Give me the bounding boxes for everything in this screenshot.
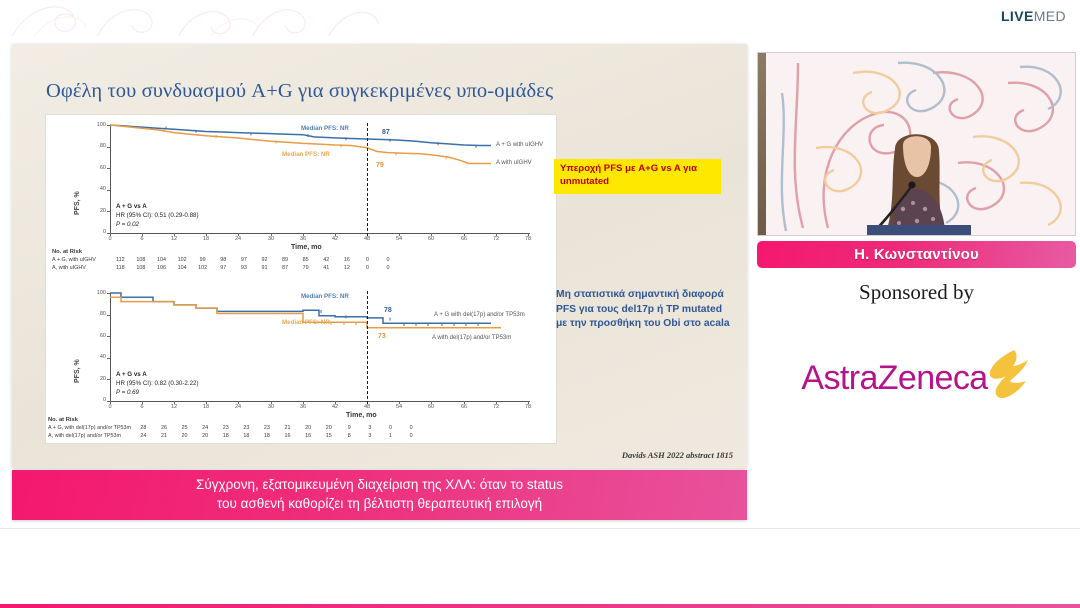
chart2-risk-header: No. at Risk xyxy=(48,417,421,423)
risk-cell: 108 xyxy=(131,256,152,264)
risk-cell: 3 xyxy=(360,432,381,440)
risk-cell: 18 xyxy=(215,432,236,440)
risk-cell: 3 xyxy=(360,424,381,432)
risk-cell: 102 xyxy=(172,256,193,264)
risk-cell: 23 xyxy=(236,424,257,432)
chart2-stat-box: A + G vs A HR (95% CI): 0.82 (0.30-2.22)… xyxy=(116,371,199,398)
slide-bottom-banner: Σύγχρονη, εξατομικευμένη διαχείριση της … xyxy=(12,470,747,520)
risk-cell: 0 xyxy=(401,432,422,440)
risk-cell: 85 xyxy=(295,256,316,264)
livemed-live: LIVE xyxy=(1001,8,1034,24)
slide-title: Οφέλη του συνδυασμού A+G για συγκεκριμέν… xyxy=(46,80,553,103)
chart1-stat-header: A + G vs A xyxy=(116,203,199,212)
risk-cell: 20 xyxy=(298,424,319,432)
risk-cell: 21 xyxy=(154,432,175,440)
risk-cell: 16 xyxy=(298,432,319,440)
risk-cell: 20 xyxy=(318,424,339,432)
risk-cell: 41 xyxy=(316,264,337,272)
callout-yellow-highlight: Υπεροχή PFS με A+G vs A για unmutated xyxy=(554,159,721,194)
risk-cell: 26 xyxy=(154,424,175,432)
chart2-endpoint-orange: 73 xyxy=(378,333,386,340)
chart2-risk-table: No. at Risk A + G, with del(17p) and/or … xyxy=(48,417,421,440)
chart2-endpoint-blue: 78 xyxy=(384,307,392,314)
astrazeneca-wordmark: AstraZeneca xyxy=(801,359,987,398)
chart2-risk-row-label: A, with del(17p) and/or TP53m xyxy=(48,432,133,440)
risk-cell: 24 xyxy=(195,424,216,432)
chart1-risk-table: No. at Risk A + G, with uIGHV 112 108 10… xyxy=(52,249,398,272)
risk-cell: 12 xyxy=(337,264,358,272)
speaker-figure xyxy=(857,117,977,235)
sponsored-by-label: Sponsored by xyxy=(757,280,1076,305)
speaker-name: Η. Κωνσταντίνου xyxy=(854,246,979,263)
chart1-median-orange: Median PFS: NR xyxy=(282,151,330,158)
livemed-med: MED xyxy=(1034,8,1066,24)
risk-cell: 0 xyxy=(378,264,399,272)
conference-footer: ΔΙΗΜΕΡΙΔΑ Η Αιματολογία ως Διεπιστημονικ… xyxy=(0,528,1080,608)
decorative-swirl-top xyxy=(0,0,420,36)
chart2-median-blue: Median PFS: NR xyxy=(301,293,349,300)
risk-cell: 23 xyxy=(215,424,236,432)
risk-cell: 108 xyxy=(131,264,152,272)
table-row: A, with uIGHV 118 108 106 104 102 97 93 … xyxy=(52,264,398,272)
chart1-stat-box: A + G vs A HR (95% CI): 0.51 (0.29-0.88)… xyxy=(116,203,199,230)
chart1-series-label-orange: A with uIGHV xyxy=(496,160,532,166)
risk-cell: 9 xyxy=(339,424,360,432)
risk-cell: 97 xyxy=(213,264,234,272)
chart2-vline-48mo xyxy=(367,291,368,404)
risk-cell: 42 xyxy=(316,256,337,264)
chart1-series-label-blue: A + G with uIGHV xyxy=(496,142,543,148)
risk-cell: 0 xyxy=(401,424,422,432)
chart2-series-label-orange: A with del(17p) and/or TP53m xyxy=(432,335,511,341)
video-edge-strip xyxy=(758,53,766,235)
risk-cell: 1 xyxy=(380,432,401,440)
risk-cell: 97 xyxy=(234,256,255,264)
footer-accent-rule xyxy=(0,604,1080,608)
callout-blue-note: Μη στατιστικά σημαντική διαφορά PFS για … xyxy=(556,288,736,332)
chart1-endpoint-blue: 87 xyxy=(382,129,390,136)
risk-cell: 0 xyxy=(380,424,401,432)
risk-cell: 15 xyxy=(318,432,339,440)
chart2-series-label-blue: A + G with del(17p) and/or TP53m xyxy=(434,312,525,318)
km-chart-uighv: PFS, % 100 80 60 40 20 0 xyxy=(46,115,558,275)
chart1-median-blue: Median PFS: NR xyxy=(301,125,349,132)
risk-cell: 98 xyxy=(213,256,234,264)
astrazeneca-ribbon-icon xyxy=(984,348,1032,400)
risk-cell: 118 xyxy=(110,264,131,272)
risk-cell: 112 xyxy=(110,256,131,264)
slide-panel: Οφέλη του συνδυασμού A+G για συγκεκριμέν… xyxy=(12,44,747,468)
chart1-risk-row-label: A + G, with uIGHV xyxy=(52,256,110,264)
speaker-video[interactable] xyxy=(757,52,1076,236)
chart-card: PFS, % 100 80 60 40 20 0 xyxy=(45,114,557,444)
presentation-viewer: LIVEMED Οφέλη του συνδυασμού A+G για συγ… xyxy=(0,0,1080,608)
table-row: A + G, with del(17p) and/or TP53m 28 26 … xyxy=(48,424,421,432)
risk-cell: 25 xyxy=(174,424,195,432)
risk-cell: 18 xyxy=(257,432,278,440)
chart2-stat-p: P = 0.69 xyxy=(116,389,139,396)
km-chart-del17p: PFS, % 100 80 60 40 20 0 xyxy=(46,283,558,445)
risk-cell: 0 xyxy=(378,256,399,264)
risk-cell: 79 xyxy=(295,264,316,272)
risk-cell: 0 xyxy=(357,256,378,264)
livemed-logo: LIVEMED xyxy=(1001,8,1066,24)
risk-cell: 102 xyxy=(192,264,213,272)
chart1-vline-48mo xyxy=(367,123,368,236)
risk-cell: 16 xyxy=(337,256,358,264)
risk-cell: 20 xyxy=(174,432,195,440)
risk-cell: 23 xyxy=(257,424,278,432)
risk-cell: 87 xyxy=(275,264,296,272)
chart2-median-orange: Median PFS: NR xyxy=(282,319,330,326)
risk-cell: 18 xyxy=(236,432,257,440)
risk-cell: 93 xyxy=(234,264,255,272)
chart1-endpoint-orange: 79 xyxy=(376,162,384,169)
chart1-risk-row-label: A, with uIGHV xyxy=(52,264,110,272)
risk-cell: 8 xyxy=(339,432,360,440)
risk-cell: 0 xyxy=(357,264,378,272)
chart1-stat-hr: HR (95% CI): 0.51 (0.29-0.88) xyxy=(116,212,199,221)
risk-cell: 20 xyxy=(195,432,216,440)
chart2-risk-row-label: A + G, with del(17p) and/or TP53m xyxy=(48,424,133,432)
chart1-stat-p: P = 0.02 xyxy=(116,221,139,228)
speaker-name-badge: Η. Κωνσταντίνου xyxy=(757,241,1076,268)
astrazeneca-logo: AstraZeneca xyxy=(757,345,1076,411)
chart1-risk-header: No. at Risk xyxy=(52,249,398,255)
risk-cell: 24 xyxy=(133,432,154,440)
risk-cell: 89 xyxy=(275,256,296,264)
banner-line-2: του ασθενή καθορίζει τη βέλτιστη θεραπευ… xyxy=(217,496,542,511)
table-row: A, with del(17p) and/or TP53m 24 21 20 2… xyxy=(48,432,421,440)
risk-cell: 21 xyxy=(277,424,298,432)
risk-cell: 99 xyxy=(192,256,213,264)
risk-cell: 104 xyxy=(172,264,193,272)
banner-line-1: Σύγχρονη, εξατομικευμένη διαχείριση της … xyxy=(196,477,563,492)
risk-cell: 16 xyxy=(277,432,298,440)
chart2-stat-header: A + G vs A xyxy=(116,371,199,380)
risk-cell: 106 xyxy=(151,264,172,272)
slide-citation: Davids ASH 2022 abstract 1815 xyxy=(622,450,733,460)
top-bar: LIVEMED xyxy=(0,0,1080,36)
chart2-stat-hr: HR (95% CI): 0.82 (0.30-2.22) xyxy=(116,380,199,389)
table-row: A + G, with uIGHV 112 108 104 102 99 98 … xyxy=(52,256,398,264)
risk-cell: 91 xyxy=(254,264,275,272)
risk-cell: 92 xyxy=(254,256,275,264)
risk-cell: 104 xyxy=(151,256,172,264)
risk-cell: 28 xyxy=(133,424,154,432)
